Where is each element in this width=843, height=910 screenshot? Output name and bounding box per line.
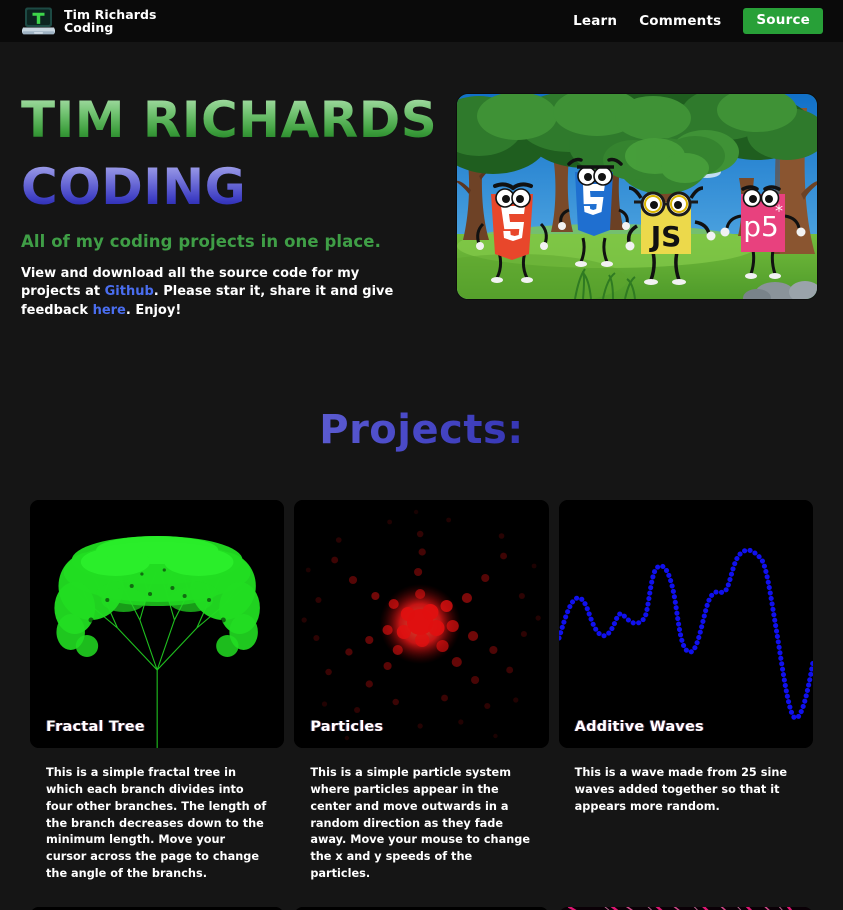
- feedback-here-link[interactable]: here: [93, 303, 126, 318]
- forest-mascots-illustration: JS: [457, 94, 817, 299]
- project-card-additive-waves[interactable]: Additive Waves This is a wave made from …: [559, 500, 813, 882]
- hero-section: Tim Richards Coding All of my coding pro…: [0, 42, 843, 320]
- github-link[interactable]: Github: [105, 284, 154, 299]
- hero-body-suffix: . Enjoy!: [126, 303, 181, 318]
- project-title: Additive Waves: [575, 719, 704, 735]
- hero-title-line-1: Tim Richards: [21, 96, 437, 145]
- brand-line-1: Tim Richards: [64, 8, 157, 21]
- hero-body-text: View and download all the source code fo…: [21, 265, 421, 320]
- brand-home-link[interactable]: Tim Richards Coding: [22, 6, 157, 36]
- project-description: This is a simple fractal tree in which e…: [30, 765, 284, 882]
- particles-thumbnail[interactable]: Particles: [294, 500, 548, 748]
- fractal-tree-thumbnail[interactable]: Fractal Tree: [30, 500, 284, 748]
- source-button[interactable]: Source: [743, 8, 823, 35]
- particles-svg: [294, 500, 548, 748]
- laptop-logo-svg: [22, 6, 55, 36]
- hero-text-column: Tim Richards Coding All of my coding pro…: [21, 94, 421, 320]
- navbar: Tim Richards Coding Learn Comments Sourc…: [0, 0, 843, 42]
- nav-link-learn[interactable]: Learn: [573, 13, 617, 29]
- laptop-logo-icon: [22, 6, 55, 36]
- svg-text:JS: JS: [649, 220, 682, 253]
- brand-text: Tim Richards Coding: [64, 8, 157, 35]
- project-title: Fractal Tree: [46, 719, 145, 735]
- brand-line-2: Coding: [64, 21, 157, 34]
- nav-links: Learn Comments Source: [573, 8, 823, 35]
- nav-link-comments[interactable]: Comments: [639, 13, 721, 29]
- projects-grid-row-1: Fractal Tree This is a simple fractal tr…: [0, 500, 843, 882]
- hero-subtitle: All of my coding projects in one place.: [21, 232, 421, 251]
- projects-heading: Projects:: [0, 408, 843, 452]
- fractal-tree-svg: [30, 500, 284, 748]
- project-card-fractal-tree[interactable]: Fractal Tree This is a simple fractal tr…: [30, 500, 284, 882]
- project-title: Particles: [310, 719, 383, 735]
- project-card-particles[interactable]: Particles This is a simple particle syst…: [294, 500, 548, 882]
- forest-mascots-svg: JS: [457, 94, 817, 299]
- hero-title-line-2: Coding: [21, 163, 246, 212]
- project-description: This is a wave made from 25 sine waves a…: [559, 765, 813, 815]
- additive-waves-svg: [559, 500, 813, 748]
- svg-text:p5: p5: [743, 210, 779, 243]
- project-description: This is a simple particle system where p…: [294, 765, 548, 882]
- additive-waves-thumbnail[interactable]: Additive Waves: [559, 500, 813, 748]
